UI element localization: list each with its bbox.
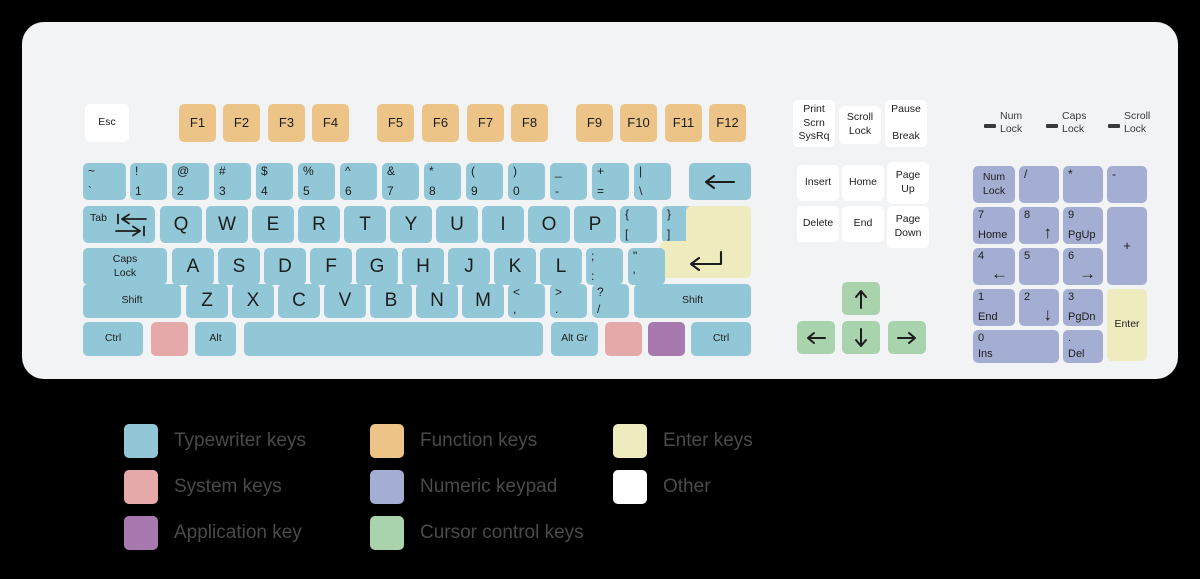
- numpad-8-number: 8: [1024, 209, 1030, 221]
- key-7[interactable]: & 7: [382, 163, 419, 200]
- key-0-top: ): [513, 165, 517, 178]
- key-f10-label: F10: [620, 104, 657, 142]
- numpad-7-alt: Home: [978, 229, 1007, 241]
- legend-label-cursor: Cursor control keys: [420, 522, 584, 544]
- key-f8-label: F8: [511, 104, 548, 142]
- key-r-label: R: [298, 206, 340, 243]
- key-quote-bottom: ': [633, 270, 635, 283]
- numpad-enter-label: Enter: [1107, 289, 1147, 361]
- key-minus-top: _: [555, 165, 562, 178]
- key-c-label: C: [278, 284, 320, 318]
- numpad-decimal-alt: Del: [1068, 348, 1085, 360]
- numpad-5-number: 5: [1024, 250, 1030, 262]
- legend-swatch-other: [613, 470, 647, 504]
- key-insert-label: Insert: [797, 165, 839, 201]
- key-f4[interactable]: F4: [312, 104, 349, 142]
- numpad-key-minus[interactable]: -: [1107, 166, 1147, 203]
- key-v[interactable]: V: [324, 284, 366, 318]
- key-e[interactable]: E: [252, 206, 294, 243]
- key-caps-lock-label: Caps Lock: [83, 248, 167, 285]
- key-k[interactable]: K: [494, 248, 536, 285]
- key-f3-label: F3: [268, 104, 305, 142]
- key-n[interactable]: N: [416, 284, 458, 318]
- tab-arrows-icon: [113, 213, 149, 237]
- key-d[interactable]: D: [264, 248, 306, 285]
- key-semicolon-bottom: :: [591, 270, 594, 283]
- key-shift-right[interactable]: Shift: [634, 284, 751, 318]
- key-bracket-left[interactable]: { [: [620, 206, 657, 243]
- numpad-key-4[interactable]: 4 ←: [973, 248, 1015, 285]
- scroll-lock-led-line-2: Lock: [1124, 123, 1150, 136]
- numpad-key-5[interactable]: 5: [1019, 248, 1059, 285]
- numpad-2-down-arrow-icon: ↓: [1044, 306, 1053, 323]
- key-f11[interactable]: F11: [665, 104, 702, 142]
- key-g-label: G: [356, 248, 398, 285]
- key-f3[interactable]: F3: [268, 104, 305, 142]
- key-comma[interactable]: < ,: [508, 284, 545, 318]
- prtscn-line-2: Scrn: [803, 117, 825, 131]
- up-arrow-icon: [842, 282, 880, 315]
- key-p[interactable]: P: [574, 206, 616, 243]
- numpad-key-num-lock[interactable]: Num Lock: [973, 166, 1015, 203]
- numpad-1-number: 1: [978, 291, 984, 303]
- numpad-decimal-number: .: [1068, 332, 1071, 344]
- pagedown-line-2: Down: [895, 227, 922, 241]
- key-j[interactable]: J: [448, 248, 490, 285]
- key-e-label: E: [252, 206, 294, 243]
- key-f6-label: F6: [422, 104, 459, 142]
- key-minus-bottom: -: [555, 185, 559, 198]
- key-ctrl-left[interactable]: Ctrl: [83, 322, 143, 356]
- key-slash-bottom: /: [597, 303, 600, 316]
- numpad-4-number: 4: [978, 250, 984, 262]
- legend: Typewriter keys Function keys Enter keys…: [0, 408, 1200, 568]
- key-g[interactable]: G: [356, 248, 398, 285]
- down-arrow-icon: [842, 321, 880, 354]
- key-arrow-down[interactable]: [842, 321, 880, 354]
- key-u[interactable]: U: [436, 206, 478, 243]
- key-scroll-lock[interactable]: Scroll Lock: [839, 106, 881, 144]
- key-u-label: U: [436, 206, 478, 243]
- key-tab-label: Tab: [90, 212, 107, 224]
- key-backslash[interactable]: | \: [634, 163, 671, 200]
- key-y-label: Y: [390, 206, 432, 243]
- scroll-lock-led-line-1: Scroll: [1124, 110, 1150, 123]
- key-equals[interactable]: + =: [592, 163, 629, 200]
- key-shift-right-label: Shift: [634, 284, 751, 318]
- key-2-bottom: 2: [177, 185, 184, 198]
- key-8-bottom: 8: [429, 185, 436, 198]
- key-l[interactable]: L: [540, 248, 582, 285]
- key-f6[interactable]: F6: [422, 104, 459, 142]
- legend-swatch-system: [124, 470, 158, 504]
- key-slash[interactable]: ? /: [592, 284, 629, 318]
- key-insert[interactable]: Insert: [797, 165, 839, 201]
- key-c[interactable]: C: [278, 284, 320, 318]
- caps-line-2: Lock: [114, 267, 136, 281]
- legend-label-function: Function keys: [420, 430, 537, 452]
- legend-label-typewriter: Typewriter keys: [174, 430, 306, 452]
- key-windows-left[interactable]: [151, 322, 188, 356]
- key-6[interactable]: ^ 6: [340, 163, 377, 200]
- caps-lock-led-line-1: Caps: [1062, 110, 1087, 123]
- numpad-9-alt: PgUp: [1068, 229, 1096, 241]
- key-end-label: End: [842, 206, 884, 242]
- key-backtick-top: ~: [88, 165, 95, 178]
- key-7-top: &: [387, 165, 395, 178]
- key-delete-label: Delete: [797, 206, 839, 242]
- key-d-label: D: [264, 248, 306, 285]
- key-9-top: (: [471, 165, 475, 178]
- key-alt-gr-label: Alt Gr: [551, 322, 598, 356]
- key-bracket-right-bottom: ]: [667, 228, 670, 241]
- numpad-key-decimal[interactable]: . Del: [1063, 330, 1103, 363]
- key-5[interactable]: % 5: [298, 163, 335, 200]
- key-3[interactable]: # 3: [214, 163, 251, 200]
- key-f4-label: F4: [312, 104, 349, 142]
- pause-line-2: Break: [892, 130, 919, 144]
- legend-item-enter-keys: Enter keys: [613, 424, 753, 458]
- legend-swatch-enter: [613, 424, 647, 458]
- key-arrow-left[interactable]: [797, 321, 835, 354]
- numpad-key-3[interactable]: 3 PgDn: [1063, 289, 1103, 326]
- key-v-label: V: [324, 284, 366, 318]
- key-f12[interactable]: F12: [709, 104, 746, 142]
- key-period-top: >: [555, 286, 562, 299]
- legend-label-system: System keys: [174, 476, 282, 498]
- key-y[interactable]: Y: [390, 206, 432, 243]
- legend-swatch-numeric: [370, 470, 404, 504]
- numpad-3-alt: PgDn: [1068, 311, 1096, 323]
- key-4[interactable]: $ 4: [256, 163, 293, 200]
- key-backslash-bottom: \: [639, 185, 642, 198]
- left-arrow-icon: [797, 321, 835, 354]
- caps-lock-led-icon: [1046, 124, 1058, 128]
- key-s-label: S: [218, 248, 260, 285]
- key-f2-label: F2: [223, 104, 260, 142]
- numpad-divide-label: /: [1024, 168, 1027, 181]
- legend-item-other: Other: [613, 470, 711, 504]
- numpad-key-plus[interactable]: +: [1107, 207, 1147, 285]
- key-1-bottom: 1: [135, 185, 142, 198]
- legend-item-application-key: Application key: [124, 516, 302, 550]
- key-l-label: L: [540, 248, 582, 285]
- key-arrow-right[interactable]: [888, 321, 926, 354]
- legend-swatch-cursor: [370, 516, 404, 550]
- key-w[interactable]: W: [206, 206, 248, 243]
- key-x-label: X: [232, 284, 274, 318]
- key-t[interactable]: T: [344, 206, 386, 243]
- numpad-4-left-arrow-icon: ←: [991, 265, 1008, 282]
- key-r[interactable]: R: [298, 206, 340, 243]
- key-t-label: T: [344, 206, 386, 243]
- key-print-screen-label: Print Scrn SysRq: [793, 100, 835, 147]
- key-1[interactable]: ! 1: [130, 163, 167, 200]
- prtscn-line-3: SysRq: [799, 130, 830, 144]
- key-f-label: F: [310, 248, 352, 285]
- key-f9-label: F9: [576, 104, 613, 142]
- numpad-3-number: 3: [1068, 291, 1074, 303]
- key-3-top: #: [219, 165, 226, 178]
- key-esc-label: Esc: [85, 104, 129, 142]
- key-j-label: J: [448, 248, 490, 285]
- caps-lock-led-line-2: Lock: [1062, 123, 1087, 136]
- key-s[interactable]: S: [218, 248, 260, 285]
- key-8-top: *: [429, 165, 434, 178]
- key-m-label: M: [462, 284, 504, 318]
- key-ctrl-right[interactable]: Ctrl: [691, 322, 751, 356]
- key-minus[interactable]: _ -: [550, 163, 587, 200]
- key-slash-top: ?: [597, 286, 604, 299]
- numpad-9-number: 9: [1068, 209, 1074, 221]
- key-arrow-up[interactable]: [842, 282, 880, 315]
- key-f5-label: F5: [377, 104, 414, 142]
- key-f7-label: F7: [467, 104, 504, 142]
- key-h[interactable]: H: [402, 248, 444, 285]
- numpad-multiply-label: *: [1068, 168, 1073, 181]
- key-b-label: B: [370, 284, 412, 318]
- legend-item-cursor-control-keys: Cursor control keys: [370, 516, 584, 550]
- numpad-num-lock-label: Num Lock: [973, 166, 1015, 203]
- numpad-0-alt: Ins: [978, 348, 993, 360]
- key-2-top: @: [177, 165, 189, 178]
- key-3-bottom: 3: [219, 185, 226, 198]
- caps-line-1: Caps: [113, 253, 138, 267]
- key-0[interactable]: ) 0: [508, 163, 545, 200]
- legend-item-typewriter-keys: Typewriter keys: [124, 424, 306, 458]
- num-lock-led-line-1: Num: [1000, 110, 1022, 123]
- key-comma-bottom: ,: [513, 303, 516, 316]
- numlock-line-1: Num: [983, 171, 1005, 185]
- key-h-label: H: [402, 248, 444, 285]
- numpad-1-alt: End: [978, 311, 998, 323]
- num-lock-led-icon: [984, 124, 996, 128]
- key-period-bottom: .: [555, 303, 558, 316]
- key-k-label: K: [494, 248, 536, 285]
- key-end[interactable]: End: [842, 206, 884, 242]
- key-5-bottom: 5: [303, 185, 310, 198]
- key-f10[interactable]: F10: [620, 104, 657, 142]
- legend-label-other: Other: [663, 476, 711, 498]
- key-f7[interactable]: F7: [467, 104, 504, 142]
- key-8[interactable]: * 8: [424, 163, 461, 200]
- legend-label-numeric: Numeric keypad: [420, 476, 557, 498]
- key-print-screen[interactable]: Print Scrn SysRq: [793, 100, 835, 147]
- numpad-key-2[interactable]: 2 ↓: [1019, 289, 1059, 326]
- num-lock-led-line-2: Lock: [1000, 123, 1022, 136]
- numpad-7-number: 7: [978, 209, 984, 221]
- key-esc[interactable]: Esc: [85, 104, 129, 142]
- key-ctrl-left-label: Ctrl: [83, 322, 143, 356]
- scrolllock-line-1: Scroll: [847, 111, 873, 125]
- key-w-label: W: [206, 206, 248, 243]
- key-space[interactable]: [244, 322, 543, 356]
- key-ctrl-right-label: Ctrl: [691, 322, 751, 356]
- key-i[interactable]: I: [482, 206, 524, 243]
- key-alt-left-label: Alt: [195, 322, 236, 356]
- key-4-top: $: [261, 165, 268, 178]
- key-home[interactable]: Home: [842, 165, 884, 201]
- legend-label-enter: Enter keys: [663, 430, 753, 452]
- legend-item-function-keys: Function keys: [370, 424, 537, 458]
- key-n-label: N: [416, 284, 458, 318]
- key-f1[interactable]: F1: [179, 104, 216, 142]
- key-i-label: I: [482, 206, 524, 243]
- key-delete[interactable]: Delete: [797, 206, 839, 242]
- key-shift-left-label: Shift: [83, 284, 181, 318]
- key-6-top: ^: [345, 165, 351, 178]
- key-f12-label: F12: [709, 104, 746, 142]
- key-page-down-label: Page Down: [887, 206, 929, 248]
- key-9[interactable]: ( 9: [466, 163, 503, 200]
- key-f5[interactable]: F5: [377, 104, 414, 142]
- key-semicolon[interactable]: ; :: [586, 248, 623, 285]
- pause-line-1: Pause: [891, 103, 921, 117]
- key-equals-top: +: [597, 165, 604, 178]
- key-backspace[interactable]: [689, 163, 751, 200]
- key-shift-left[interactable]: Shift: [83, 284, 181, 318]
- key-caps-lock[interactable]: Caps Lock: [83, 248, 167, 285]
- key-bracket-left-top: {: [625, 208, 629, 221]
- legend-swatch-function: [370, 424, 404, 458]
- key-b[interactable]: B: [370, 284, 412, 318]
- indicator-scroll-lock: Scroll Lock: [1108, 110, 1150, 136]
- key-2[interactable]: @ 2: [172, 163, 209, 200]
- key-quote-top: ": [633, 250, 637, 263]
- key-bracket-left-bottom: [: [625, 228, 628, 241]
- key-application-menu[interactable]: [648, 322, 685, 356]
- key-o[interactable]: O: [528, 206, 570, 243]
- key-q-label: Q: [160, 206, 202, 243]
- key-q[interactable]: Q: [160, 206, 202, 243]
- key-bracket-right-top: }: [667, 208, 671, 221]
- key-4-bottom: 4: [261, 185, 268, 198]
- key-semicolon-top: ;: [591, 250, 594, 263]
- key-f9[interactable]: F9: [576, 104, 613, 142]
- key-0-bottom: 0: [513, 185, 520, 198]
- key-backslash-top: |: [639, 165, 642, 178]
- key-a[interactable]: A: [172, 248, 214, 285]
- pageup-line-1: Page: [896, 169, 921, 183]
- key-tab[interactable]: Tab: [83, 206, 155, 243]
- pagedown-line-1: Page: [896, 213, 921, 227]
- key-z[interactable]: Z: [186, 284, 228, 318]
- key-f8[interactable]: F8: [511, 104, 548, 142]
- numpad-key-divide[interactable]: /: [1019, 166, 1059, 203]
- numpad-2-number: 2: [1024, 291, 1030, 303]
- key-page-up-label: Page Up: [887, 162, 929, 204]
- scroll-lock-led-icon: [1108, 124, 1120, 128]
- key-p-label: P: [574, 206, 616, 243]
- numpad-key-enter[interactable]: Enter: [1107, 289, 1147, 361]
- key-alt-gr[interactable]: Alt Gr: [551, 322, 598, 356]
- numpad-plus-label: +: [1107, 207, 1147, 285]
- key-f2[interactable]: F2: [223, 104, 260, 142]
- backspace-arrow-icon: [689, 163, 751, 200]
- scrolllock-line-2: Lock: [849, 125, 871, 139]
- legend-swatch-application: [124, 516, 158, 550]
- key-backtick-bottom: `: [88, 185, 92, 198]
- key-a-label: A: [172, 248, 214, 285]
- numpad-0-number: 0: [978, 332, 984, 344]
- key-m[interactable]: M: [462, 284, 504, 318]
- key-6-bottom: 6: [345, 185, 352, 198]
- prtscn-line-1: Print: [803, 103, 825, 117]
- key-o-label: O: [528, 206, 570, 243]
- key-windows-right[interactable]: [605, 322, 642, 356]
- pageup-line-2: Up: [901, 183, 914, 197]
- key-pause-break[interactable]: Pause Break: [885, 100, 927, 147]
- key-f1-label: F1: [179, 104, 216, 142]
- key-9-bottom: 9: [471, 185, 478, 198]
- legend-item-system-keys: System keys: [124, 470, 282, 504]
- key-period[interactable]: > .: [550, 284, 587, 318]
- key-page-down[interactable]: Page Down: [887, 206, 929, 248]
- numpad-key-7[interactable]: 7 Home: [973, 207, 1015, 244]
- key-pause-break-label: Pause Break: [885, 100, 927, 147]
- indicator-num-lock: Num Lock: [984, 110, 1022, 136]
- numpad-key-9[interactable]: 9 PgUp: [1063, 207, 1103, 244]
- key-7-bottom: 7: [387, 185, 394, 198]
- numpad-key-1[interactable]: 1 End: [973, 289, 1015, 326]
- numpad-key-6[interactable]: 6 →: [1063, 248, 1103, 285]
- numpad-minus-label: -: [1112, 168, 1116, 181]
- numpad-key-0[interactable]: 0 Ins: [973, 330, 1059, 363]
- key-page-up[interactable]: Page Up: [887, 162, 929, 204]
- key-5-top: %: [303, 165, 314, 178]
- numpad-6-right-arrow-icon: →: [1079, 265, 1096, 282]
- key-f11-label: F11: [665, 104, 702, 142]
- right-arrow-icon: [888, 321, 926, 354]
- key-scroll-lock-label: Scroll Lock: [839, 106, 881, 144]
- key-x[interactable]: X: [232, 284, 274, 318]
- indicator-caps-lock: Caps Lock: [1046, 110, 1087, 136]
- key-comma-top: <: [513, 286, 520, 299]
- numpad-key-multiply[interactable]: *: [1063, 166, 1103, 203]
- key-backtick[interactable]: ~ `: [83, 163, 126, 200]
- key-quote[interactable]: " ': [628, 248, 665, 285]
- key-f[interactable]: F: [310, 248, 352, 285]
- keyboard-card: Esc F1 F2 F3 F4 F5 F6 F7 F8 F9 F10 F11 F…: [22, 22, 1178, 379]
- legend-label-application: Application key: [174, 522, 302, 544]
- key-equals-bottom: =: [597, 185, 604, 198]
- numpad-6-number: 6: [1068, 250, 1074, 262]
- numlock-line-2: Lock: [983, 185, 1005, 199]
- key-home-label: Home: [842, 165, 884, 201]
- numpad-8-up-arrow-icon: ↑: [1044, 224, 1053, 241]
- legend-swatch-typewriter: [124, 424, 158, 458]
- key-enter-joiner: [686, 237, 751, 247]
- numpad-key-8[interactable]: 8 ↑: [1019, 207, 1059, 244]
- key-z-label: Z: [186, 284, 228, 318]
- legend-item-numeric-keypad: Numeric keypad: [370, 470, 557, 504]
- key-1-top: !: [135, 165, 138, 178]
- key-alt-left[interactable]: Alt: [195, 322, 236, 356]
